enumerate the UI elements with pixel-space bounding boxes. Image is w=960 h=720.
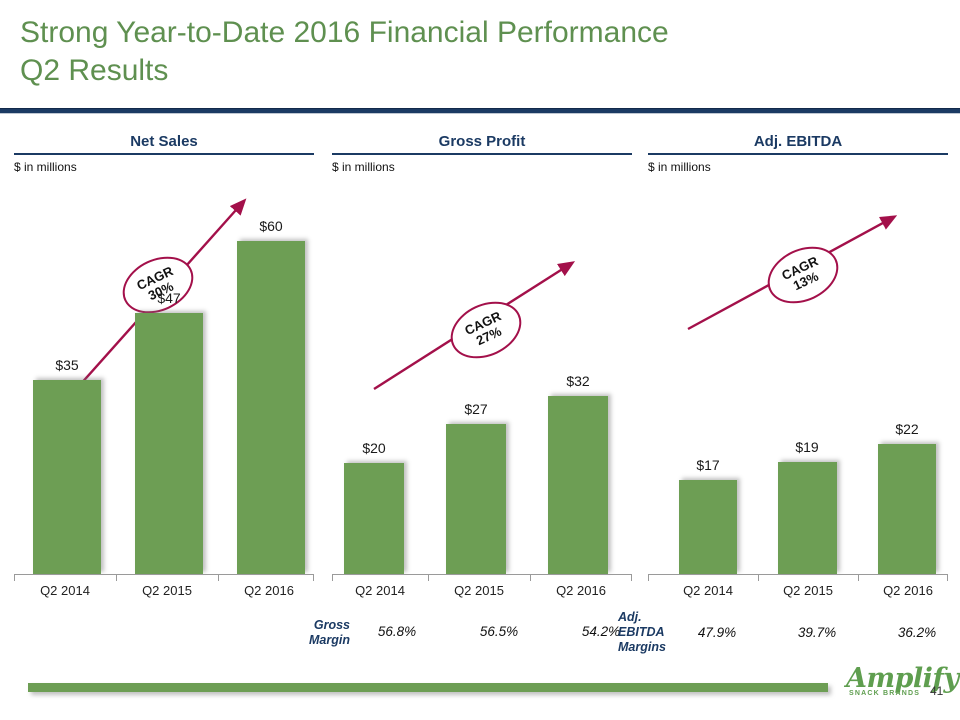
bar-net-sales-q2-2015 [135, 313, 203, 574]
bar-value-label: $27 [440, 401, 512, 417]
bar-value-label: $60 [237, 218, 305, 234]
category-labels-adj-ebitda: Q2 2014 Q2 2015 Q2 2016 [648, 583, 948, 607]
chart-title-net-sales: Net Sales [14, 132, 314, 152]
bar-gross-profit-q2-2016 [548, 396, 608, 574]
category-label: Q2 2015 [758, 583, 858, 598]
axis-tick [116, 574, 117, 581]
amplify-logo: Amplify SNACK BRANDS [846, 664, 938, 710]
bar-net-sales-q2-2014 [33, 380, 101, 574]
category-labels-net-sales: Q2 2014 Q2 2015 Q2 2016 [14, 583, 314, 607]
bar-net-sales-q2-2016 [237, 241, 305, 574]
title-divider [0, 108, 960, 114]
page-title: Strong Year-to-Date 2016 Financial Perfo… [20, 14, 920, 90]
cagr-text-block: CAGR 27% [441, 291, 530, 369]
x-axis-gross-profit [332, 574, 632, 581]
category-label: Q2 2016 [218, 583, 320, 598]
bar-value-label: $17 [672, 457, 744, 473]
axis-tick [758, 574, 759, 581]
cagr-badge-adj-ebitda: CAGR 13% [766, 249, 840, 301]
bar-value-label: $22 [871, 421, 943, 437]
footer-accent-bar [28, 683, 828, 692]
gross-margin-value: 56.5% [454, 624, 544, 639]
adj-ebitda-margin-row: Adj. EBITDA Margins 47.9% 39.7% 36.2% [618, 607, 958, 653]
chart-panel-net-sales: Net Sales $ in millions CAGR 30% $35 $47… [14, 132, 314, 622]
category-label: Q2 2015 [428, 583, 530, 598]
x-axis-adj-ebitda [648, 574, 948, 581]
chart-title-underline [332, 153, 632, 155]
cagr-text-block: CAGR 13% [758, 236, 847, 314]
chart-units-gross-profit: $ in millions [332, 159, 632, 175]
axis-tick [218, 574, 219, 581]
axis-tick [530, 574, 531, 581]
chart-title-gross-profit: Gross Profit [332, 132, 632, 152]
axis-tick [858, 574, 859, 581]
category-label: Q2 2014 [658, 583, 758, 598]
adj-ebitda-margin-caption: Adj. EBITDA Margins [618, 610, 676, 655]
bar-value-label: $20 [338, 440, 410, 456]
page-number: 41 [930, 684, 943, 698]
chart-units-adj-ebitda: $ in millions [648, 159, 948, 175]
gross-margin-caption: Gross Margin [280, 618, 350, 648]
bar-gross-profit-q2-2015 [446, 424, 506, 574]
plot-area-net-sales: CAGR 30% $35 $47 $60 [14, 181, 314, 581]
category-label: Q2 2015 [116, 583, 218, 598]
bar-gross-profit-q2-2014 [344, 463, 404, 574]
chart-title-adj-ebitda: Adj. EBITDA [648, 132, 948, 152]
bar-value-label: $47 [135, 290, 203, 306]
adj-ebitda-margin-value: 36.2% [876, 625, 958, 640]
bar-value-label: $19 [771, 439, 843, 455]
chart-units-net-sales: $ in millions [14, 159, 314, 175]
adj-ebitda-margin-value: 39.7% [776, 625, 858, 640]
gross-margin-row: Gross Margin 56.8% 56.5% 54.2% [280, 612, 640, 658]
plot-area-adj-ebitda: CAGR 13% $17 $19 $22 [648, 181, 948, 581]
adj-ebitda-margin-value: 47.9% [676, 625, 758, 640]
chart-panel-adj-ebitda: Adj. EBITDA $ in millions CAGR 13% $17 $… [648, 132, 948, 622]
bar-adj-ebitda-q2-2015 [778, 462, 837, 574]
bar-value-label: $35 [33, 357, 101, 373]
category-labels-gross-profit: Q2 2014 Q2 2015 Q2 2016 [332, 583, 632, 607]
chart-title-underline [14, 153, 314, 155]
axis-tick [428, 574, 429, 581]
category-label: Q2 2014 [332, 583, 428, 598]
category-label: Q2 2016 [530, 583, 632, 598]
chart-panel-gross-profit: Gross Profit $ in millions CAGR 27% $20 … [332, 132, 632, 622]
plot-area-gross-profit: CAGR 27% $20 $27 $32 [332, 181, 632, 581]
chart-title-underline [648, 153, 948, 155]
x-axis-net-sales [14, 574, 314, 581]
bar-adj-ebitda-q2-2014 [679, 480, 737, 574]
category-label: Q2 2014 [14, 583, 116, 598]
category-label: Q2 2016 [858, 583, 958, 598]
cagr-badge-gross-profit: CAGR 27% [449, 304, 523, 356]
gross-margin-value: 56.8% [352, 624, 442, 639]
bar-value-label: $32 [542, 373, 614, 389]
bar-adj-ebitda-q2-2016 [878, 444, 936, 574]
